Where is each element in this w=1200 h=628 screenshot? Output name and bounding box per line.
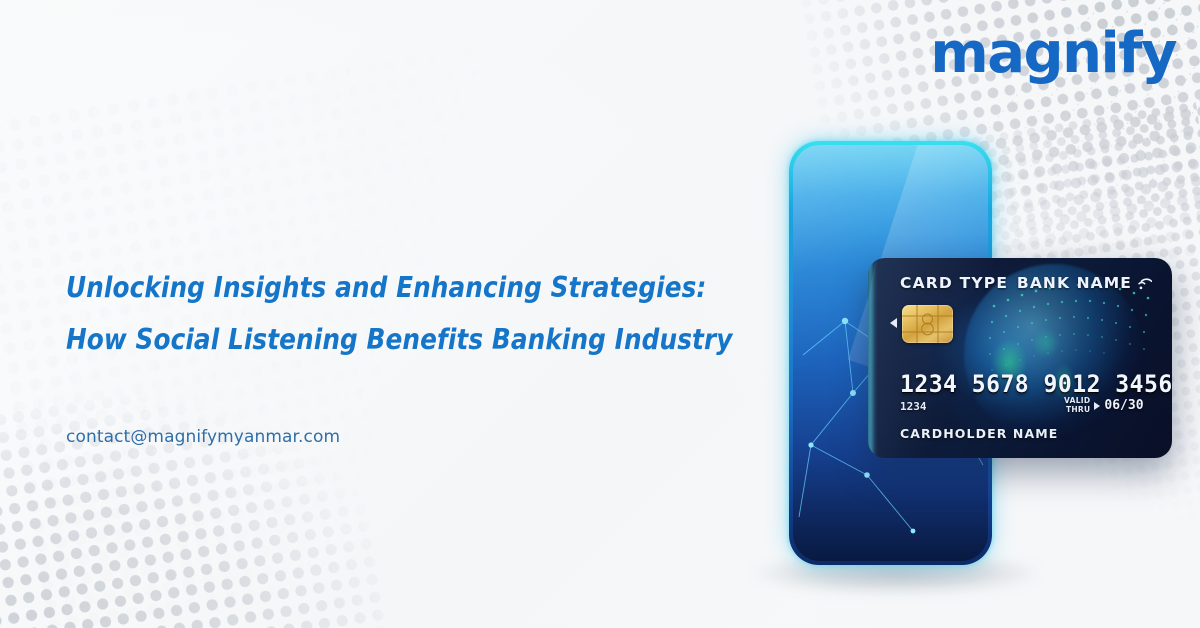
credit-card-mockup: CARD TYPE BANK NAME bbox=[868, 258, 1172, 458]
chip-arrow-icon bbox=[890, 318, 897, 328]
valid-thru-block: VALID THRU 06/30 bbox=[1064, 397, 1144, 414]
bank-name-block: BANK NAME bbox=[1017, 274, 1152, 292]
bank-name-label: BANK NAME bbox=[1017, 274, 1132, 292]
halftone-dots-bottom-left bbox=[0, 356, 391, 628]
headline-block: Unlocking Insights and Enhancing Strateg… bbox=[66, 262, 766, 366]
contact-email[interactable]: contact@magnifymyanmar.com bbox=[66, 427, 340, 447]
emv-chip-icon bbox=[902, 305, 953, 343]
valid-thru-label: VALID THRU bbox=[1064, 397, 1090, 414]
card-number: 1234 5678 9012 3456 bbox=[900, 370, 1172, 398]
headline-line-1: Unlocking Insights and Enhancing Strateg… bbox=[66, 262, 742, 314]
cardholder-name: CARDHOLDER NAME bbox=[900, 426, 1058, 441]
valid-thru-date: 06/30 bbox=[1104, 398, 1143, 413]
valid-thru-arrow-icon bbox=[1094, 402, 1100, 410]
card-number-short: 1234 bbox=[900, 400, 927, 413]
contactless-icon bbox=[1137, 276, 1152, 291]
marketing-banner: magnify Unlocking Insights and Enhancing… bbox=[0, 0, 1200, 628]
brand-logo[interactable]: magnify bbox=[930, 26, 1176, 82]
card-type-label: CARD TYPE bbox=[900, 274, 1008, 292]
headline-line-2: How Social Listening Benefits Banking In… bbox=[66, 314, 742, 366]
card-edge-glow bbox=[868, 258, 875, 458]
